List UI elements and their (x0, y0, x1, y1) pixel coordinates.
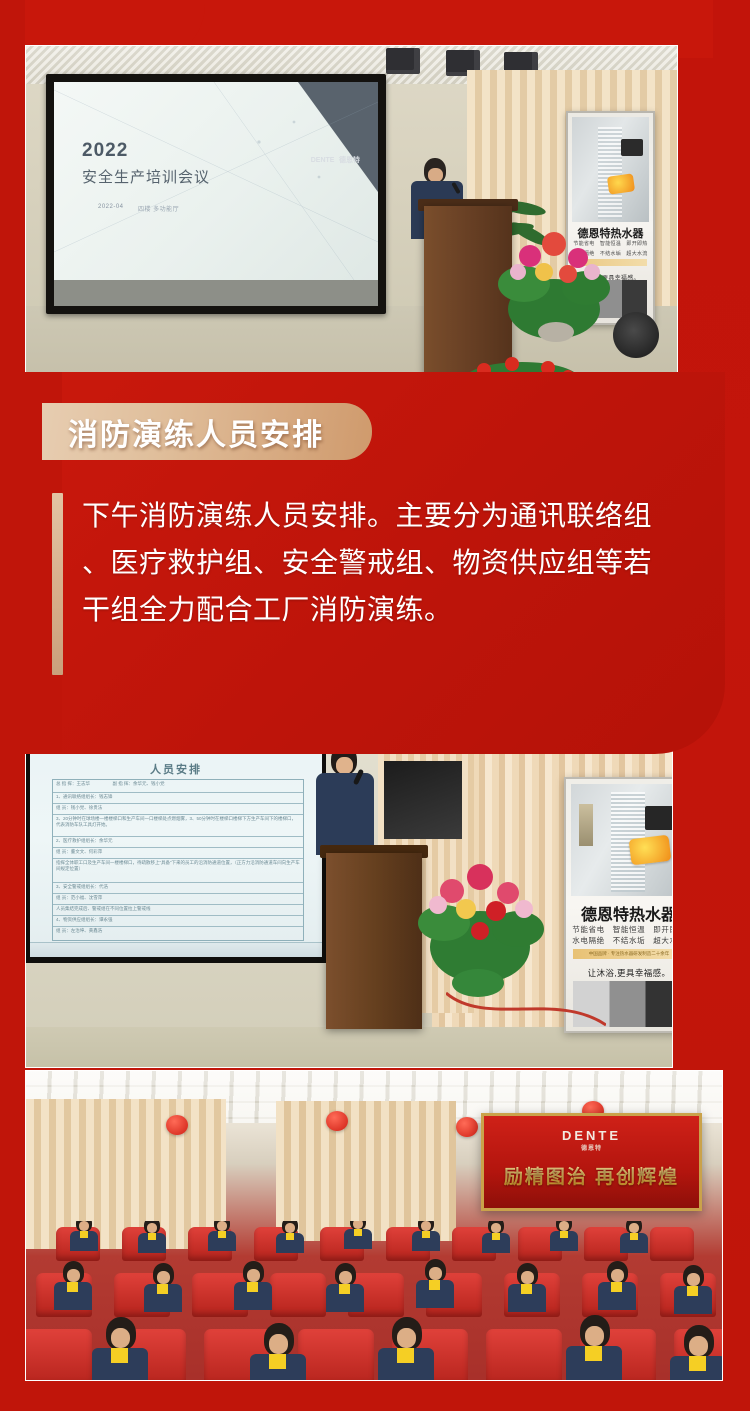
rollup-banner-title: 德恩特热水器 (566, 901, 673, 925)
attendee (508, 1263, 546, 1311)
attendee-collar (630, 1233, 638, 1240)
slide-venue: 四楼 多功能厅 (138, 204, 179, 213)
slide-year: 2022 (82, 140, 128, 162)
attendee-collar (247, 1282, 258, 1292)
rollup-banner-features-2: 水电隔绝 不结水垢 超大水流 (566, 935, 673, 946)
attendee (620, 1221, 648, 1251)
table-row: 4、物资供应组组长：谭永强 (53, 916, 303, 927)
attendee (92, 1317, 148, 1381)
attendee-collar (492, 1233, 500, 1240)
attendee-face (269, 1334, 288, 1354)
attendee-collar (611, 1282, 622, 1292)
rollup-banner-slogan: 让沐浴,更具幸福感。 (566, 967, 673, 979)
attendee (482, 1221, 510, 1251)
attendee (54, 1261, 92, 1309)
seat (298, 1329, 374, 1381)
gold-accent-bar (52, 493, 63, 675)
attendee (566, 1315, 622, 1381)
ceiling-lamp-icon (386, 48, 420, 74)
seat (486, 1329, 562, 1381)
attendee-collar (80, 1231, 88, 1238)
rollup-banner-strip-text: 中国品牌 · 专注热水器研发制造二十余年 (566, 948, 673, 959)
table-row: 组 员：钱小党、徐贵法 (53, 804, 303, 815)
photo2-floor (26, 1027, 672, 1067)
attendee (378, 1317, 434, 1381)
attendee-face (147, 1223, 157, 1233)
projector-screen-lower (54, 280, 378, 306)
attendee-face (687, 1273, 700, 1286)
loudspeaker (613, 312, 659, 358)
attendee-face (285, 1223, 295, 1233)
windows-taskbar (30, 942, 322, 957)
attendee-collar (269, 1354, 286, 1369)
attendee-face (397, 1328, 416, 1348)
projector-screen-frame: 2022 安全生产培训会议 2022-04 四楼 多功能厅 DENTE 德恩特 (46, 74, 386, 314)
attendee (550, 1221, 578, 1249)
attendee-face (421, 1221, 431, 1231)
attendee-face (429, 1267, 442, 1280)
attendee-face (629, 1223, 639, 1233)
attendee-collar (354, 1229, 362, 1236)
attendee-collar (218, 1231, 226, 1238)
table-row: 3、安全警戒组组长：代浩 (53, 883, 303, 894)
stage-backdrop-panel (384, 761, 462, 839)
attendee (234, 1261, 272, 1309)
section-title-banner: 消防演练人员安排 (42, 403, 372, 460)
attendee-collar (67, 1282, 78, 1292)
attendee-collar (286, 1233, 294, 1240)
attendee (208, 1221, 236, 1249)
attendee-face (491, 1223, 501, 1233)
attendee (144, 1263, 182, 1311)
attendee (598, 1261, 636, 1309)
attendee-face (157, 1271, 170, 1284)
attendee (670, 1325, 722, 1381)
lantern-icon (456, 1117, 478, 1137)
seat (650, 1227, 694, 1261)
document-table: 总 指 挥：王志华 副 指 挥：余华元、钱小党 1、通讯联络组组长：钱志锋 组 … (52, 779, 304, 941)
attendee-face (217, 1221, 227, 1231)
promo-badge-icon (629, 835, 672, 866)
attendee-collar (339, 1284, 350, 1294)
presenter-body (316, 773, 374, 855)
attendee-face (353, 1221, 363, 1229)
table-row: 人员集结完成后、警戒组在不同位置拉上警戒线 (53, 905, 303, 916)
table-row: 总 指 挥：王志华 副 指 挥：余华元、钱小党 (53, 780, 303, 793)
page-title: 消防演练人员安排 (68, 410, 324, 454)
attendee (326, 1263, 364, 1311)
promo-badge-icon (607, 173, 635, 194)
attendee-face (559, 1221, 569, 1231)
attendee-collar (397, 1348, 414, 1363)
lantern-icon (326, 1111, 348, 1131)
poster-page: 2022 安全生产培训会议 2022-04 四楼 多功能厅 DENTE 德恩特 (0, 0, 750, 1411)
attendee-collar (157, 1284, 168, 1294)
attendee-face (339, 1271, 352, 1284)
attendee (344, 1221, 372, 1247)
attendee (138, 1221, 166, 1251)
attendee (70, 1221, 98, 1249)
attendee-face (689, 1336, 708, 1356)
stage-banner: DENTE 德恩特 励精图治 再创辉煌 (481, 1113, 702, 1211)
attendee (416, 1259, 454, 1307)
table-row: 指挥全体职工口及生产车间一楼楼梯口，待疏散移上“具备”下来的员工的沿消防通道位置… (53, 859, 303, 883)
attendee-collar (687, 1286, 698, 1296)
training-meeting-photo: 2022 安全生产培训会议 2022-04 四楼 多功能厅 DENTE 德恩特 (25, 45, 678, 377)
dente-logo-text: DENTE (311, 157, 335, 164)
attendee (674, 1265, 712, 1313)
speaker-face (428, 168, 443, 182)
attendee-face (521, 1271, 534, 1284)
podium (326, 853, 422, 1029)
dente-logo-text: DENTE (562, 1128, 621, 1143)
seat (26, 1329, 92, 1381)
stage-banner-slogan: 励精图治 再创辉煌 (484, 1162, 699, 1189)
photo3-curtain-mid (276, 1101, 456, 1241)
presenter-face (336, 757, 353, 774)
lantern-icon (166, 1115, 188, 1135)
attendee (412, 1221, 440, 1249)
slide-title: 安全生产培训会议 (82, 166, 210, 187)
document-title: 人员安排 (30, 761, 322, 777)
attendee-face (247, 1269, 260, 1282)
attendee-face (585, 1326, 604, 1346)
towel-graphic (579, 804, 593, 846)
attendee-face (611, 1269, 624, 1282)
table-row: 1、通讯联络组组长：钱志锋 (53, 793, 303, 804)
attendee-collar (585, 1346, 602, 1361)
attendee-collar (689, 1356, 706, 1371)
table-row: 组 员：左治坤、黄鑫浩 (53, 927, 303, 938)
dente-logo: DENTE 德恩特 (484, 1128, 699, 1152)
attendee-face (111, 1328, 130, 1348)
attendee-collar (521, 1284, 532, 1294)
table-row: 3、20分钟时在球场楼一楼楼梯口和生产车间一口楼梯处点燃烟雾，3、50分钟时在楼… (53, 815, 303, 837)
dente-logo: DENTE 德恩特 (311, 154, 360, 165)
attendee-collar (429, 1280, 440, 1290)
auditorium-audience-photo: DENTE 德恩特 励精图治 再创辉煌 (25, 1070, 723, 1381)
floor-cable (446, 987, 606, 1031)
table-row: 2、医疗救护组组长：余华元 (53, 837, 303, 848)
flower-arrangement (494, 214, 614, 344)
seat (270, 1273, 326, 1317)
shower-graphic (598, 127, 622, 219)
water-heater-graphic (621, 139, 643, 156)
table-row: 组 员：范小福、沈雪萍 (53, 894, 303, 905)
slide-date: 2022-04 (98, 204, 124, 210)
flower-arrangement (418, 847, 548, 997)
attendee (276, 1221, 304, 1251)
section-body-text: 下午消防演练人员安排。主要分为通讯联络组 、医疗救护组、安全警戒组、物资供应组等… (82, 492, 702, 633)
water-heater-graphic (645, 806, 673, 830)
audience-seating (26, 1221, 722, 1381)
attendee-collar (560, 1231, 568, 1238)
dente-logo-cn: 德恩特 (484, 1143, 699, 1152)
projected-slide: 2022 安全生产培训会议 2022-04 四楼 多功能厅 DENTE 德恩特 (54, 82, 378, 280)
dente-logo-cn: 德恩特 (339, 157, 360, 164)
rollup-banner-features-1: 节能省电 智能恒温 即开即热 (566, 924, 673, 935)
attendee-face (79, 1221, 89, 1231)
attendee (250, 1323, 306, 1381)
attendee-collar (148, 1233, 156, 1240)
attendee-collar (422, 1231, 430, 1238)
rollup-banner-image (572, 117, 649, 222)
attendee-face (67, 1269, 80, 1282)
table-row: 组 员：董文文、何彩萍 (53, 848, 303, 859)
attendee-collar (111, 1348, 128, 1363)
